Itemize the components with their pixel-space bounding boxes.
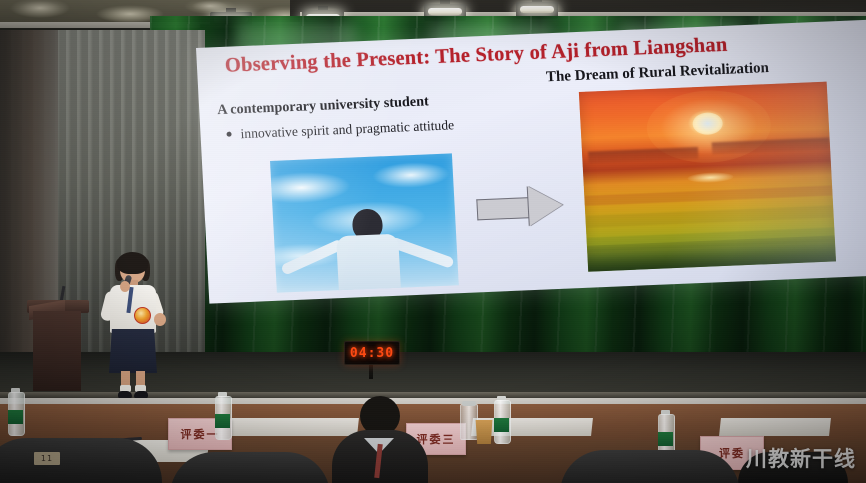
figure-torso: [336, 234, 401, 293]
chair-number-tag: 11: [34, 452, 60, 465]
slide-subheading: A contemporary university student: [217, 93, 429, 119]
timer-digits: 04:30: [350, 346, 394, 361]
water-bottle: [215, 392, 230, 438]
countdown-timer-display: 04:30: [344, 341, 400, 365]
channel-watermark: 川教新干线: [746, 443, 856, 473]
chair-back: [170, 452, 330, 483]
projection-screen: Observing the Present: The Story of Aji …: [196, 20, 866, 304]
chair-back: 11: [0, 438, 162, 483]
screenshot-root: Observing the Present: The Story of Aji …: [0, 0, 866, 483]
glass-tumbler: [460, 404, 478, 440]
slide-right-heading: The Dream of Rural Revitalization: [546, 60, 770, 86]
mountain-ridge: [588, 147, 699, 164]
presenter-figure: [98, 255, 170, 400]
timer-stand: [369, 363, 373, 379]
sun-reflection: [687, 172, 733, 184]
bullet-dot-icon: [226, 132, 231, 137]
presenter-badge: [134, 307, 151, 324]
water-bottle: [494, 396, 509, 442]
presenter-hand-left: [120, 281, 130, 292]
lectern: [27, 286, 89, 391]
figure-arm-left: [280, 239, 345, 276]
paper-cup: [474, 420, 494, 444]
slide-bullet-text: innovative spirit and pragmatic attitude: [240, 117, 454, 141]
slide-photo-sky: [270, 153, 459, 292]
table-light-reflection: [719, 418, 831, 436]
chair-back: [560, 450, 740, 483]
slide-bullet-item: innovative spirit and pragmatic attitude: [226, 117, 454, 143]
slide-photo-sunset: [579, 82, 836, 272]
field-band: [584, 185, 832, 205]
seated-attendee: [332, 396, 428, 483]
transition-arrow-icon: [476, 185, 566, 229]
presenter-hand-right: [154, 313, 166, 326]
presenter-blouse: [110, 285, 156, 333]
lectern-body: [33, 311, 81, 391]
field-band: [585, 205, 833, 227]
water-bottle: [8, 388, 23, 434]
presenter-hair: [117, 252, 148, 274]
presenter-skirt: [109, 329, 157, 373]
nameplate-label: 评委一: [181, 426, 220, 442]
